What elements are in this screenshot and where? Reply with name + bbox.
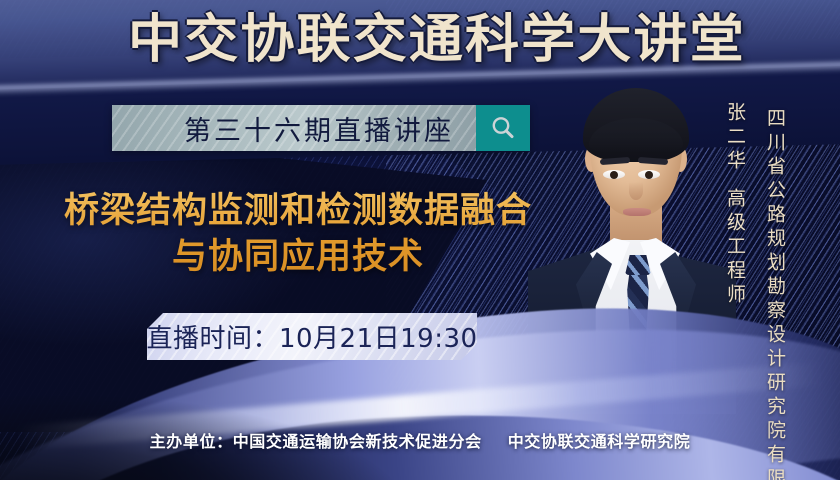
topic-line-2: 与协同应用技术 [38,234,558,280]
search-button[interactable] [476,105,530,151]
speaker-job-title: 高级工程师 [722,188,749,308]
livestream-poster: 中交协联交通科学大讲堂 第三十六期直播讲座 桥梁结构监测和检测数据融合 与协同应… [0,0,840,480]
hair [583,88,689,162]
speaker-organization: 四川省公路规划勘察设计研究院有限公司 [762,108,789,480]
lecture-topic: 桥梁结构监测和检测数据融合 与协同应用技术 [38,188,558,280]
footer-prefix: 主办单位： [150,432,233,451]
footer-org-1: 中国交通运输协会新技术促进分会 [233,432,482,451]
organizers-footer: 主办单位：中国交通运输协会新技术促进分会中交协联交通科学研究院 [0,428,840,452]
session-banner: 第三十六期直播讲座 [112,105,530,151]
eye-left [603,170,625,179]
footer-org-2: 中交协联交通科学研究院 [508,432,691,451]
topic-line-1: 桥梁结构监测和检测数据融合 [38,188,558,234]
eye-right [638,170,660,179]
broadcast-time-text: 直播时间：10月21日19:30 [147,318,477,355]
speaker-name: 张二华 [722,102,749,174]
session-banner-strip: 第三十六期直播讲座 [112,105,476,151]
search-icon [489,114,517,142]
session-label: 第三十六期直播讲座 [184,109,454,148]
nose [629,182,643,200]
broadcast-time-badge: 直播时间：10月21日19:30 [147,313,477,360]
page-title: 中交协联交通科学大讲堂 [128,14,746,66]
mouth [623,208,651,216]
